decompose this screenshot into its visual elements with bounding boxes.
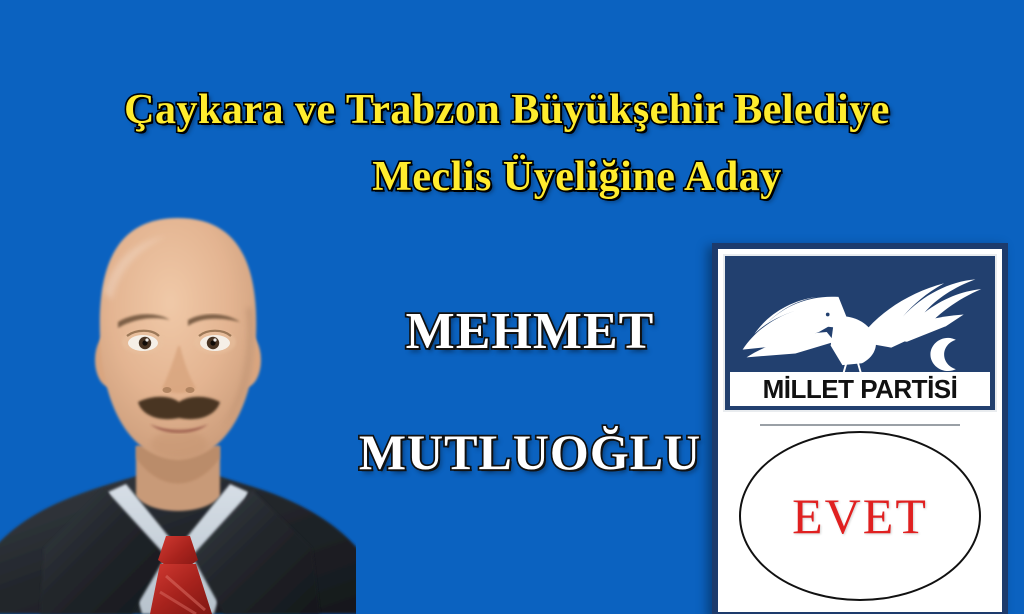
vote-label: EVET: [792, 487, 928, 545]
crescent-moon-icon: [930, 338, 955, 371]
candidate-portrait: [0, 196, 356, 614]
party-name-label: MİLLET PARTİSİ: [763, 374, 958, 405]
vote-area[interactable]: EVET: [726, 430, 994, 602]
ballot-divider: [760, 424, 960, 426]
ballot-card: MİLLET PARTİSİ EVET: [712, 243, 1008, 614]
election-poster: Çaykara ve Trabzon Büyükşehir Belediye M…: [0, 0, 1024, 614]
party-logo-panel: MİLLET PARTİSİ: [723, 254, 997, 412]
party-name-band: MİLLET PARTİSİ: [730, 372, 990, 406]
ballot-card-inner: MİLLET PARTİSİ EVET: [718, 249, 1002, 612]
